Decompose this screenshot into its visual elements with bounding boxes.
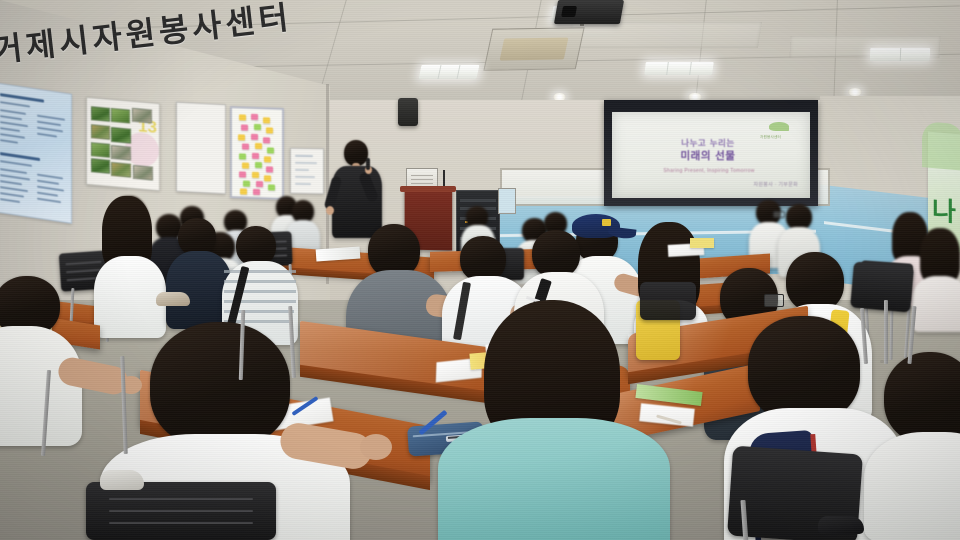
chair[interactable] <box>86 482 276 540</box>
chair[interactable] <box>850 261 914 312</box>
torso-white-shirt <box>864 432 960 540</box>
head <box>786 252 844 312</box>
torso-white-tee <box>0 326 82 446</box>
glasses <box>773 211 785 218</box>
chair[interactable] <box>640 282 696 320</box>
slide-credit: 자원봉사 · 기부문화 <box>753 181 798 188</box>
ceiling-light <box>870 48 930 61</box>
shoe <box>100 470 144 490</box>
ceiling-light <box>419 65 480 79</box>
slide-subtitle: Sharing Present, Inspiring Tomorrow <box>636 168 782 174</box>
blank-poster <box>176 102 226 195</box>
ceiling-ac-vent <box>483 27 584 71</box>
torso-teal-shirt <box>438 418 670 540</box>
info-poster-blue <box>0 82 72 224</box>
classroom-photo: 나 거제시자원봉사센터 13 <box>0 0 960 540</box>
microphone <box>366 158 370 170</box>
glasses <box>764 294 784 307</box>
photo-collage-poster: 13 <box>86 97 160 191</box>
slide-title: 나누고 누리는 미래의 선물 <box>638 140 778 162</box>
downlight <box>848 88 862 96</box>
slide-logo: 자원봉사센터 <box>760 122 800 140</box>
small-notice-sheet <box>290 148 324 195</box>
banner-glyph: 나 <box>932 190 956 229</box>
cap-logo <box>602 219 611 226</box>
head <box>236 226 276 266</box>
ceiling-light <box>644 62 714 75</box>
slide-title-line1: 나누고 누리는 <box>638 140 778 150</box>
projection-screen: 자원봉사센터 나누고 누리는 미래의 선물 Sharing Present, I… <box>612 112 810 198</box>
sticky-note-board <box>230 106 284 200</box>
head <box>748 316 860 422</box>
wall-speaker <box>398 98 418 126</box>
head <box>884 352 960 444</box>
ceiling-projector <box>554 0 624 24</box>
torso-white-tee <box>94 256 166 338</box>
thermostat-box <box>498 188 516 214</box>
shoe <box>156 292 190 306</box>
head <box>532 230 580 278</box>
slide-title-line2: 미래의 선물 <box>638 150 778 162</box>
handout-colored[interactable] <box>690 238 714 248</box>
shoe <box>818 516 864 534</box>
head <box>150 322 290 448</box>
